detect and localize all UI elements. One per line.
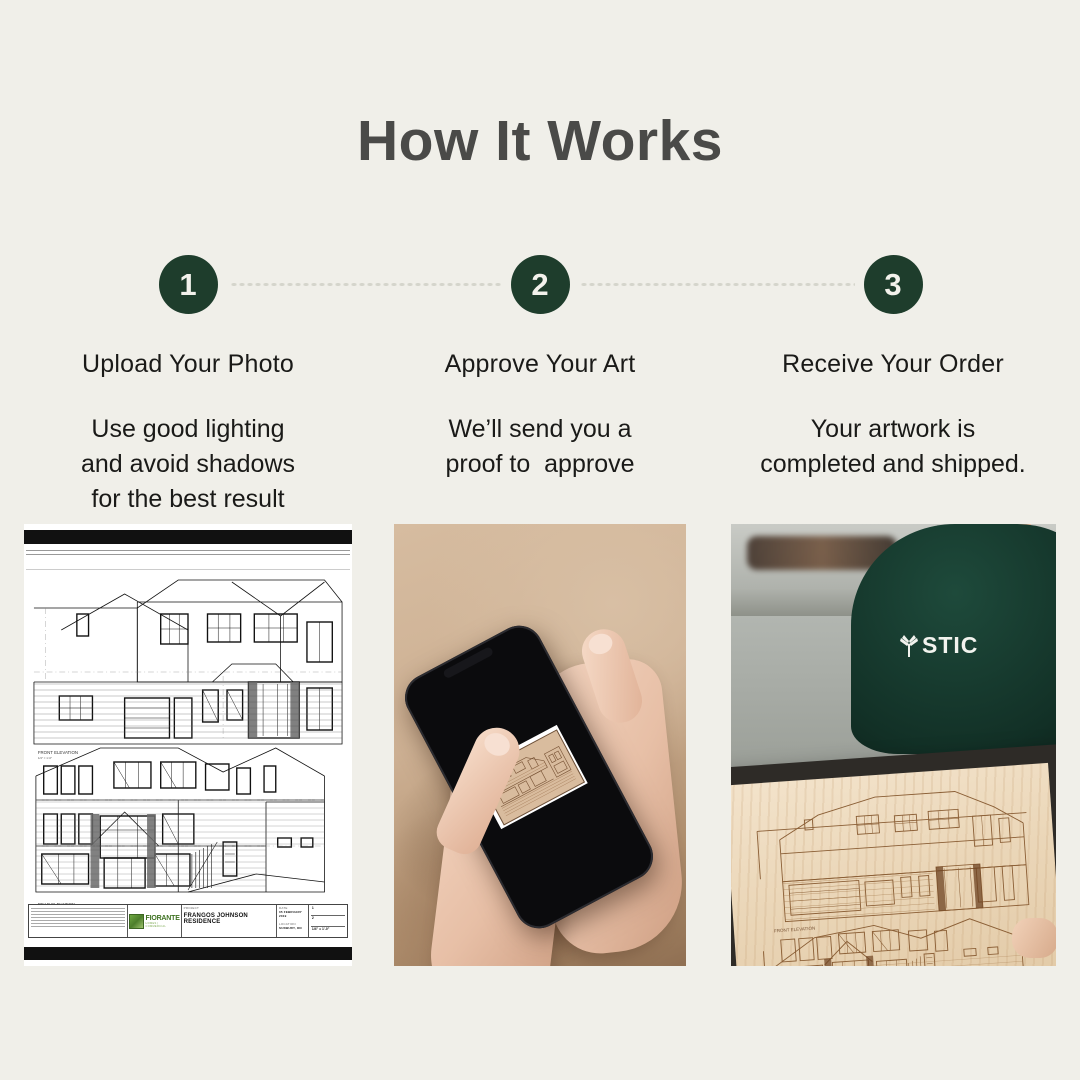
page-title: How It Works	[0, 108, 1080, 174]
sheet-info-row: 1	[311, 906, 345, 916]
step-number-badge-3: 3	[864, 255, 923, 314]
step-body-line: for the best result	[12, 482, 364, 517]
sheet-top-band	[24, 530, 352, 544]
leaf-icon	[899, 635, 919, 657]
step-number-badge-1: 1	[159, 255, 218, 314]
step-body-line: and avoid shadows	[12, 447, 364, 482]
step-number-badge-2: 2	[511, 255, 570, 314]
fiorante-logo-text-group: FIORANTE HOMES | COMMERCIAL	[146, 915, 180, 928]
blueprint-sheet: FRONT ELEVATION 1/4" = 1'-0"	[24, 524, 352, 966]
sheet-rule	[26, 550, 350, 551]
hoodie-brand-text: STIC	[922, 632, 978, 659]
sheet-info-row: 1/4" = 1'-0"	[311, 927, 345, 936]
engraved-wood-panel: FRONT ELEVATION	[731, 763, 1056, 966]
step-heading-2: Approve Your Art	[364, 350, 716, 379]
fiorante-logo-text: FIORANTE	[146, 915, 180, 922]
title-block-sheet-info: 1 2 1/4" = 1'-0"	[309, 905, 347, 937]
location-value: SUDBURY, ON	[279, 926, 306, 930]
step-3-image: STIC	[731, 524, 1056, 966]
thumb-nail	[586, 631, 615, 657]
wood-artwork-frame: FRONT ELEVATION	[731, 744, 1056, 966]
step-2: 2 Approve Your Art We’ll send you a proo…	[364, 255, 716, 482]
sheet-rule	[26, 569, 350, 570]
step-body-line: Your artwork is	[717, 412, 1069, 447]
notes-ruled-lines	[31, 908, 125, 927]
front-elevation-drawing: FRONT ELEVATION 1/4" = 1'-0"	[32, 572, 344, 762]
step-body-line: completed and shipped.	[717, 447, 1069, 482]
sheet-rule	[26, 554, 350, 555]
fiorante-logo-subtext: HOMES | COMMERCIAL	[146, 922, 167, 928]
step-body-2: We’ll send you a proof to approve	[364, 412, 716, 482]
hoodie-brand-logo: STIC	[899, 632, 978, 659]
step-1-image: FRONT ELEVATION 1/4" = 1'-0"	[24, 524, 352, 966]
step-body-line: We’ll send you a	[364, 412, 716, 447]
step-1: 1 Upload Your Photo Use good lighting an…	[12, 255, 364, 517]
title-block-logo: FIORANTE HOMES | COMMERCIAL	[128, 905, 182, 937]
steps-row: 1 Upload Your Photo Use good lighting an…	[0, 255, 1080, 515]
date-value: 05 FEBRUARY 2019	[279, 910, 306, 918]
step-body-line: proof to approve	[364, 447, 716, 482]
fiorante-logo-icon	[129, 914, 144, 929]
thumb-nail	[481, 729, 514, 760]
step-heading-3: Receive Your Order	[717, 350, 1069, 379]
project-value: FRANGOS JOHNSON RESIDENCE	[184, 913, 274, 925]
step-2-image	[394, 524, 686, 966]
step-body-line: Use good lighting	[12, 412, 364, 447]
person-hand-right	[1012, 918, 1056, 958]
title-block-project: PROJECT FRANGOS JOHNSON RESIDENCE	[182, 905, 277, 937]
blueprint-title-block: FIORANTE HOMES | COMMERCIAL PROJECT FRAN…	[28, 904, 348, 938]
step-3: 3 Receive Your Order Your artwork is com…	[717, 255, 1069, 482]
step-heading-1: Upload Your Photo	[12, 350, 364, 379]
title-block-notes	[29, 905, 128, 937]
sheet-info-grid: 1 2 1/4" = 1'-0"	[311, 906, 345, 936]
sheet-bottom-band	[24, 947, 352, 960]
title-block-date-location: DATE 05 FEBRUARY 2019 LOCATION SUDBURY, …	[277, 905, 309, 937]
step-body-1: Use good lighting and avoid shadows for …	[12, 412, 364, 517]
svg-text:FRONT ELEVATION: FRONT ELEVATION	[774, 926, 816, 934]
project-label: PROJECT	[184, 906, 274, 910]
step-body-3: Your artwork is completed and shipped.	[717, 412, 1069, 482]
sheet-info-row: 2	[311, 916, 345, 926]
